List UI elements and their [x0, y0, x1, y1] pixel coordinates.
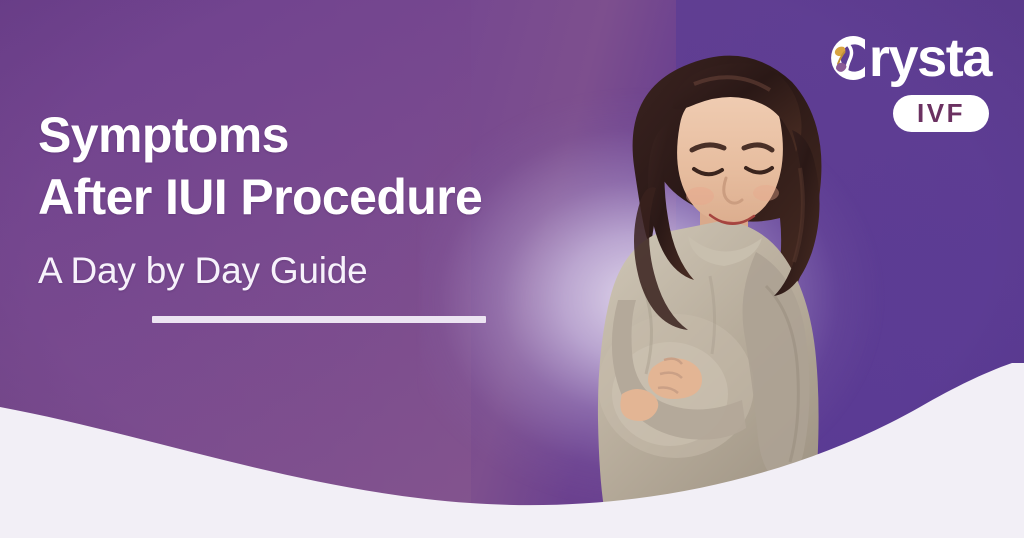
crysta-c-monogram-icon — [820, 30, 870, 86]
page-title: Symptoms After IUI Procedure — [38, 104, 618, 228]
title-underline-rule — [152, 316, 486, 323]
subheadline: A Day by Day Guide — [38, 249, 618, 293]
bottom-wave-decoration — [0, 363, 1024, 538]
brand-wordmark: rysta — [820, 27, 991, 89]
brand-badge-ivf: IVF — [893, 95, 989, 132]
headline-line-1: Symptoms — [38, 107, 289, 163]
brand-wordmark-text: rysta — [869, 31, 991, 85]
headline-block: Symptoms After IUI Procedure A Day by Da… — [38, 104, 618, 323]
headline-line-2: After IUI Procedure — [38, 166, 618, 228]
brand-logo[interactable]: rysta IVF — [820, 27, 991, 132]
banner-root: Symptoms After IUI Procedure A Day by Da… — [0, 0, 1024, 538]
